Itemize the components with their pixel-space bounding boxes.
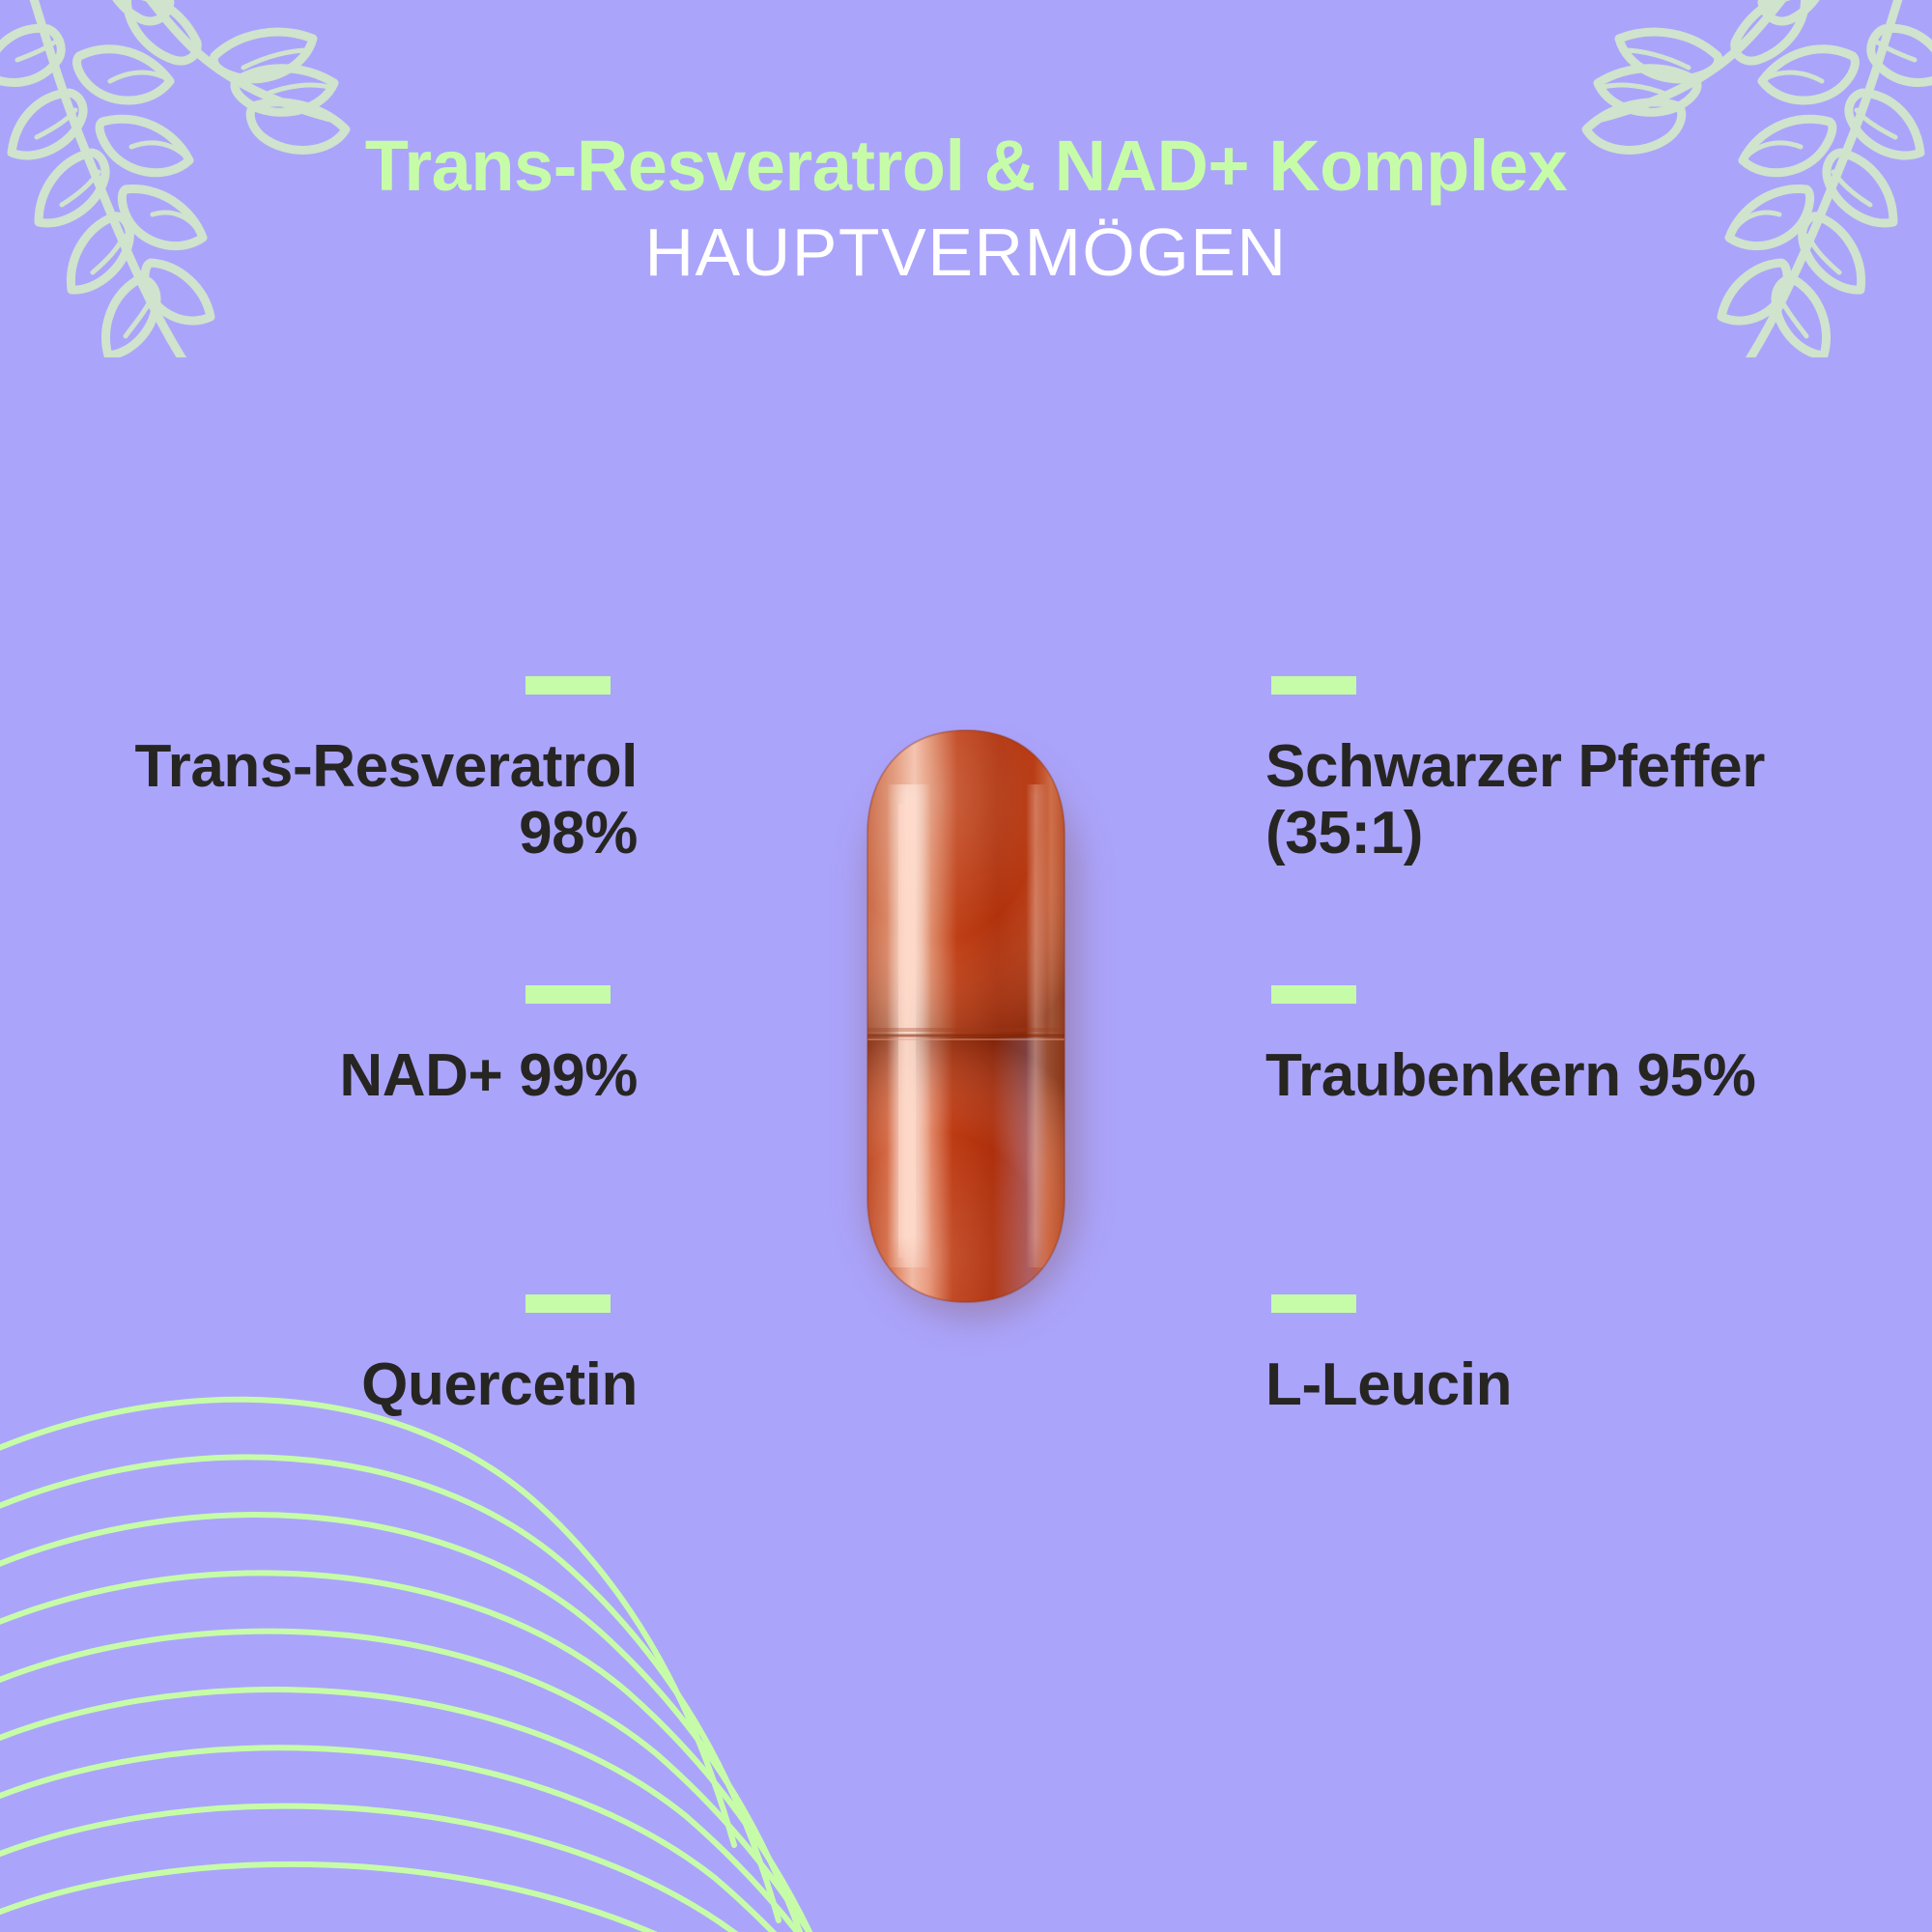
headline-secondary: HAUPTVERMÖGEN <box>0 214 1932 292</box>
ingredient-item: Schwarzer Pfeffer (35:1) <box>1265 676 1806 985</box>
ingredient-label: Trans-Resveratrol 98% <box>97 733 638 867</box>
ingredient-label: Quercetin <box>97 1351 638 1418</box>
ingredient-label: NAD+ 99% <box>97 1042 638 1109</box>
accent-dash-icon <box>526 985 611 1004</box>
product-capsule <box>854 726 1078 1306</box>
ingredient-label: Traubenkern 95% <box>1265 1042 1806 1109</box>
accent-dash-icon <box>1271 985 1356 1004</box>
headline-block: Trans-Resveratrol & NAD+ Komplex HAUPTVE… <box>0 128 1932 292</box>
headline-primary: Trans-Resveratrol & NAD+ Komplex <box>0 128 1932 205</box>
accent-dash-icon <box>526 676 611 695</box>
ingredient-item: NAD+ 99% <box>97 985 638 1294</box>
product-infographic: Trans-Resveratrol & NAD+ Komplex HAUPTVE… <box>0 0 1932 1932</box>
accent-dash-icon <box>1271 676 1356 695</box>
accent-dash-icon <box>1271 1294 1356 1313</box>
ingredient-item: L-Leucin <box>1265 1294 1806 1507</box>
ingredient-item: Quercetin <box>97 1294 638 1507</box>
capsule-image <box>854 726 1078 1306</box>
ingredient-label: Schwarzer Pfeffer (35:1) <box>1265 733 1806 867</box>
ingredient-label: L-Leucin <box>1265 1351 1806 1418</box>
ingredient-item: Trans-Resveratrol 98% <box>97 676 638 985</box>
accent-dash-icon <box>526 1294 611 1313</box>
ingredient-column-right: Schwarzer Pfeffer (35:1) Traubenkern 95%… <box>1265 676 1806 1507</box>
ingredient-item: Traubenkern 95% <box>1265 985 1806 1294</box>
ingredient-column-left: Trans-Resveratrol 98% NAD+ 99% Quercetin <box>97 676 638 1507</box>
